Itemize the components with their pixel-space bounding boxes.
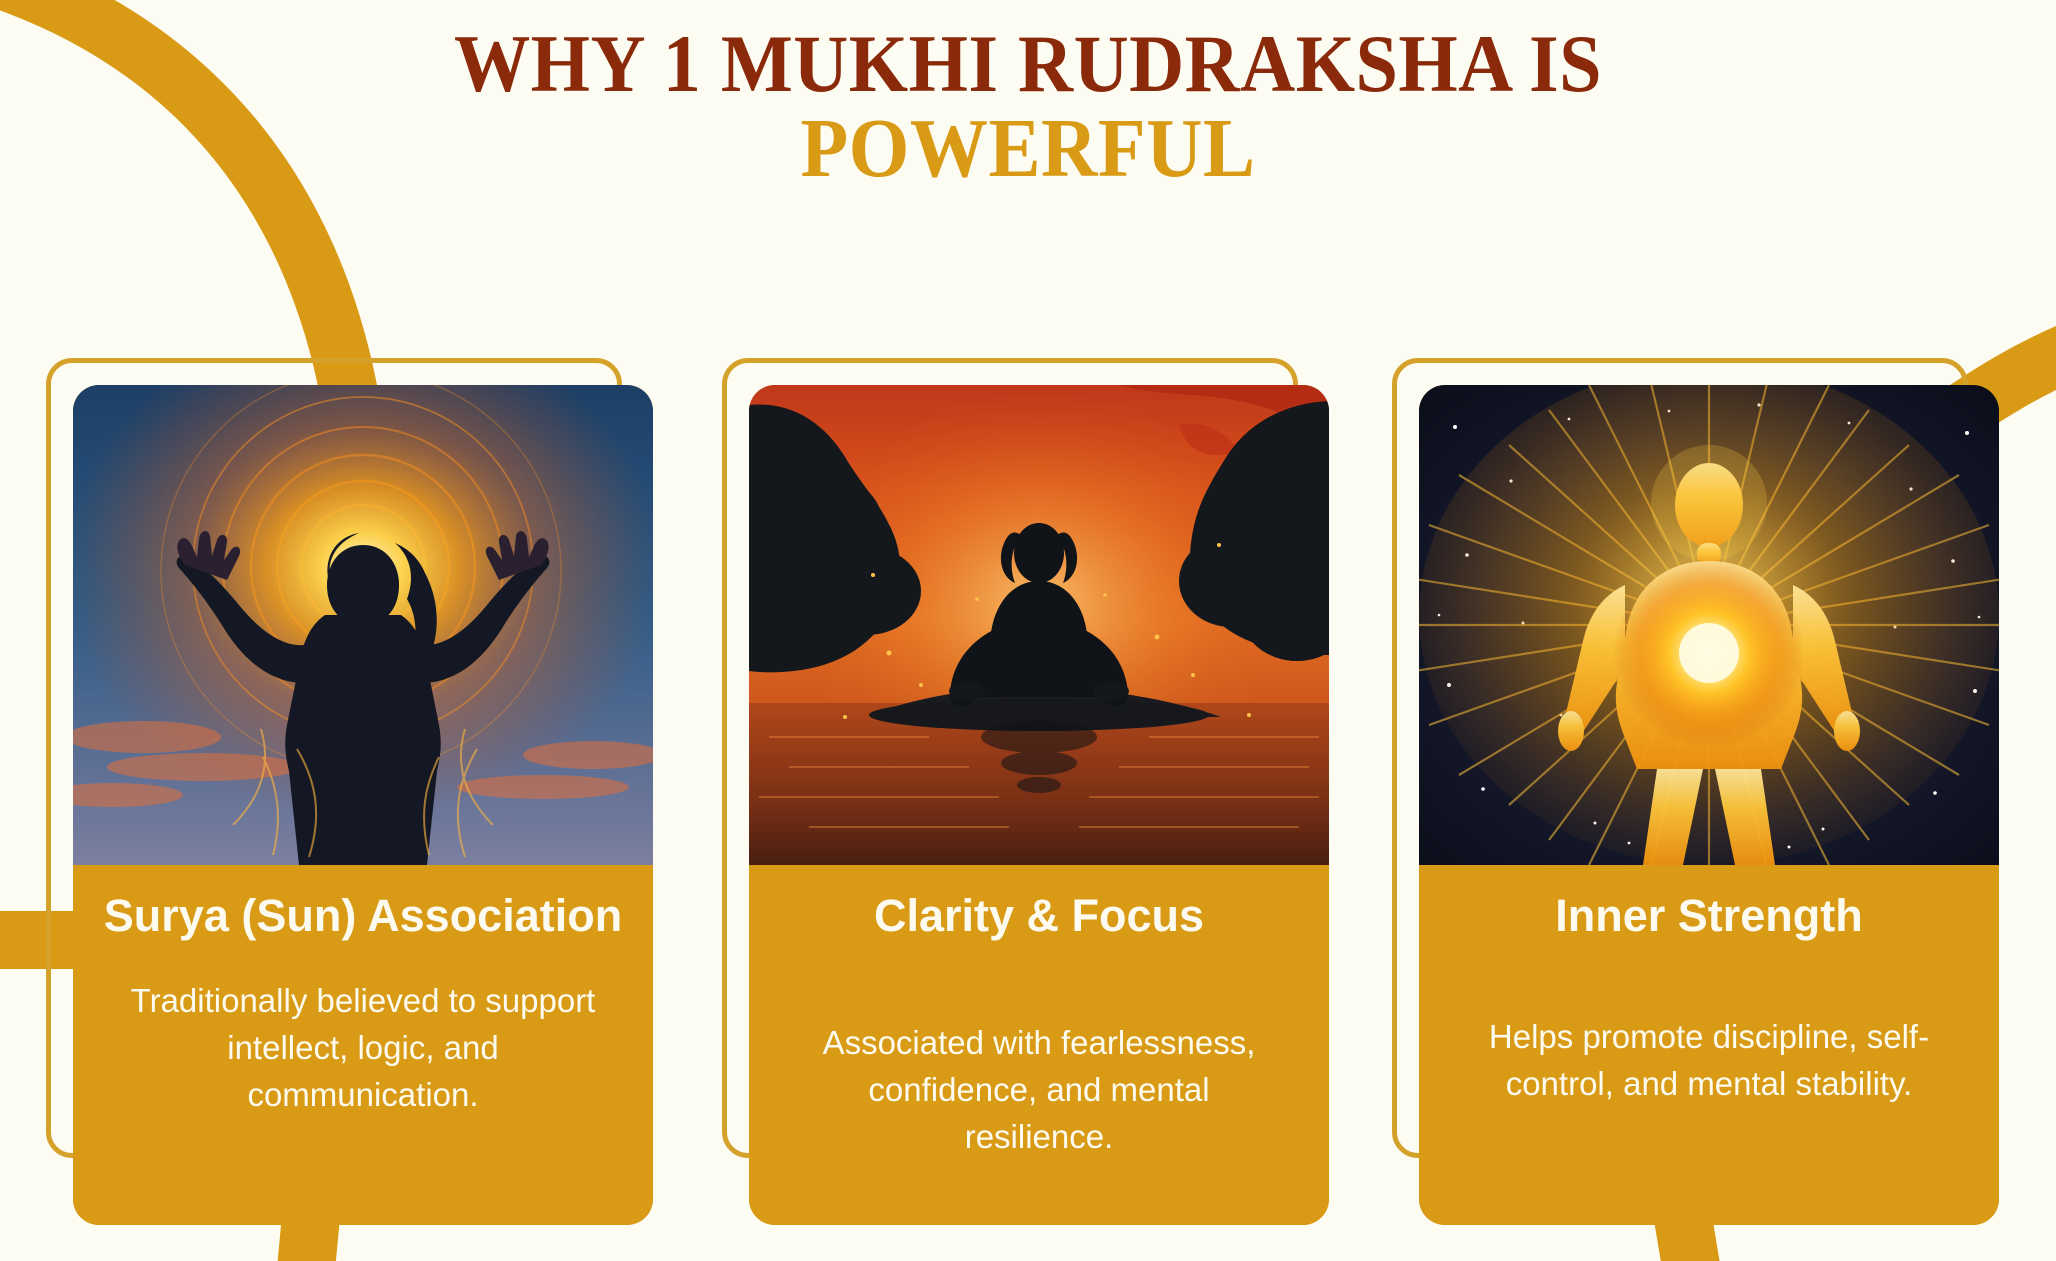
card-title: Clarity & Focus xyxy=(779,891,1299,942)
benefit-card-inner-strength[interactable]: Inner Strength Helps promote discipline,… xyxy=(1392,358,1982,1228)
benefit-card-surya-sun-association[interactable]: Surya (Sun) Association Traditionally be… xyxy=(46,358,636,1228)
card-image-person-with-raised-arms-before-sun xyxy=(73,385,653,865)
card-surface[interactable]: Surya (Sun) Association Traditionally be… xyxy=(73,385,653,1225)
card-title: Inner Strength xyxy=(1449,891,1969,942)
page-title: WHY 1 MUKHI RUDRAKSHA IS POWERFUL xyxy=(0,22,2056,191)
page-title-line-2: POWERFUL xyxy=(72,106,1984,192)
card-surface[interactable]: Inner Strength Helps promote discipline,… xyxy=(1419,385,1999,1225)
card-description: Helps promote discipline, self-control, … xyxy=(1449,1014,1969,1108)
benefit-card-clarity-and-focus[interactable]: Clarity & Focus Associated with fearless… xyxy=(722,358,1312,1228)
card-image-glowing-human-silhouette-radiating-light xyxy=(1419,385,1999,865)
card-image-person-meditating-at-sunset-by-water xyxy=(749,385,1329,865)
card-text-block: Inner Strength Helps promote discipline,… xyxy=(1419,865,1999,1225)
card-title: Surya (Sun) Association xyxy=(103,891,623,942)
card-text-block: Surya (Sun) Association Traditionally be… xyxy=(73,865,653,1225)
card-description: Associated with fearlessness, confidence… xyxy=(779,1020,1299,1161)
page-title-line-1: WHY 1 MUKHI RUDRAKSHA IS xyxy=(72,22,1984,106)
card-description: Traditionally believed to support intell… xyxy=(103,978,623,1119)
card-surface[interactable]: Clarity & Focus Associated with fearless… xyxy=(749,385,1329,1225)
card-text-block: Clarity & Focus Associated with fearless… xyxy=(749,865,1329,1225)
